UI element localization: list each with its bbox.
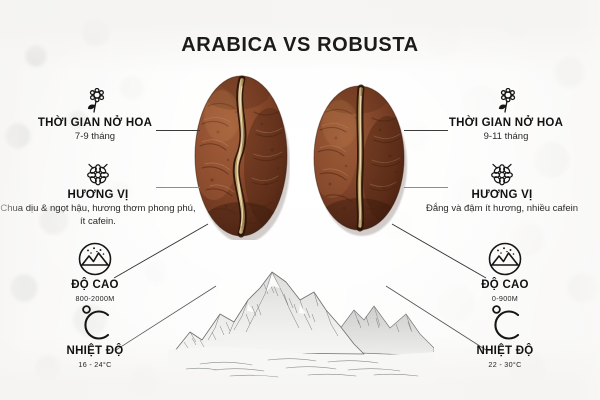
aroma-icon-slot [0,156,196,186]
flower-icon [494,88,518,114]
left-temperature-block: NHIỆT ĐỘ 16 - 24°C [28,302,162,369]
degree-celsius-icon [486,302,524,342]
degree-celsius-icon [76,302,114,342]
arabica-coffee-bean [192,72,290,245]
left-bloom-time-value: 7-9 tháng [0,131,190,144]
right-altitude-heading: ĐỘ CAO [438,279,572,291]
right-bloom-time-value: 9-11 tháng [412,131,600,144]
right-bloom-time-block: THỜI GIAN NỞ HOA 9-11 tháng [412,84,600,144]
altitude-icon-slot [28,236,162,276]
robusta-coffee-bean [310,72,408,245]
right-flavor-heading: HƯƠNG VỊ [404,189,600,201]
left-flavor-value: Chua dịu & ngọt hậu, hương thơm phong ph… [0,203,196,229]
right-temperature-value: 22 - 30°C [438,360,572,369]
page-title: ARABICA VS ROBUSTA [0,34,600,57]
left-temperature-value: 16 - 24°C [28,360,162,369]
right-flavor-value: Đắng và đậm ít hương, nhiều cafein [404,203,600,216]
left-altitude-heading: ĐỘ CAO [28,279,162,291]
mountain-circle-icon [488,242,522,276]
left-bloom-time-block: THỜI GIAN NỞ HOA 7-9 tháng [0,84,190,144]
right-bloom-time-heading: THỜI GIAN NỞ HOA [412,117,600,129]
altitude-icon-slot-right [438,236,572,276]
right-flavor-block: HƯƠNG VỊ Đắng và đậm ít hương, nhiều caf… [404,156,600,216]
right-altitude-block: ĐỘ CAO 0-900M [438,236,572,303]
aroma-burst-icon [85,162,111,186]
left-flavor-heading: HƯƠNG VỊ [0,189,196,201]
left-flavor-block: HƯƠNG VỊ Chua dịu & ngọt hậu, hương thơm… [0,156,196,229]
flower-icon [83,88,107,114]
aroma-burst-icon [489,162,515,186]
infographic-canvas: ARABICA VS ROBUSTA [0,0,600,400]
right-temperature-block: NHIỆT ĐỘ 22 - 30°C [438,302,572,369]
temperature-icon-slot-right [438,302,572,342]
left-bloom-time-heading: THỜI GIAN NỞ HOA [0,117,190,129]
mountain-circle-icon [78,242,112,276]
temperature-icon-slot [28,302,162,342]
flower-icon-slot-right [412,84,600,114]
right-temperature-heading: NHIỆT ĐỘ [438,345,572,357]
left-altitude-block: ĐỘ CAO 800-2000M [28,236,162,303]
left-temperature-heading: NHIỆT ĐỘ [28,345,162,357]
coffee-bean-comparison [192,72,408,252]
flower-icon-slot [0,84,190,114]
aroma-icon-slot-right [404,156,600,186]
